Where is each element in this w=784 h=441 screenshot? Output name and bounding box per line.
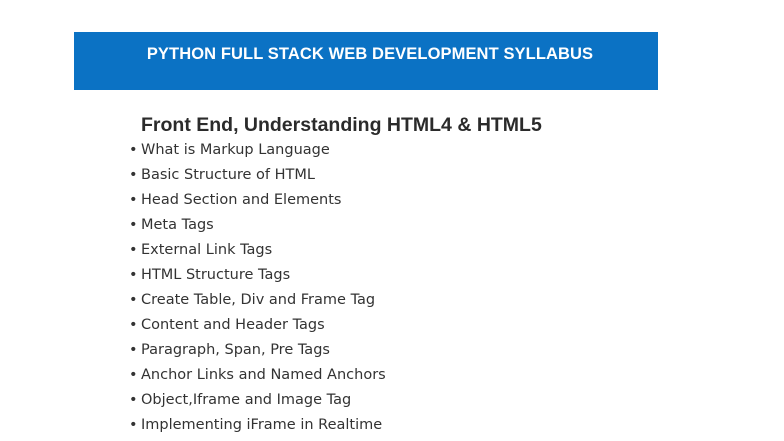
list-item-label: Create Table, Div and Frame Tag [141,288,375,313]
list-item: • Object,Iframe and Image Tag [129,388,729,413]
list-item-label: What is Markup Language [141,138,330,163]
list-item: • Implementing iFrame in Realtime [129,413,729,438]
list-item-label: Object,Iframe and Image Tag [141,388,351,413]
list-item-label: Basic Structure of HTML [141,163,315,188]
list-item: • Anchor Links and Named Anchors [129,363,729,388]
bullet-icon: • [129,288,138,313]
list-item: • Paragraph, Span, Pre Tags [129,338,729,363]
list-item: • External Link Tags [129,238,729,263]
section-heading: Front End, Understanding HTML4 & HTML5 [141,114,542,137]
document-page: PYTHON FULL STACK WEB DEVELOPMENT SYLLAB… [0,0,784,441]
list-item: • Basic Structure of HTML [129,163,729,188]
bullet-icon: • [129,138,138,163]
bullet-icon: • [129,188,138,213]
syllabus-title-text: PYTHON FULL STACK WEB DEVELOPMENT SYLLAB… [74,45,658,64]
syllabus-topic-list: • What is Markup Language • Basic Struct… [129,138,729,441]
list-item: • What is Markup Language [129,138,729,163]
bullet-icon: • [129,413,138,438]
list-item-label: External Link Tags [141,238,272,263]
bullet-icon: • [129,163,138,188]
bullet-icon: • [129,238,138,263]
list-item-label: Anchor Links and Named Anchors [141,363,386,388]
bullet-icon: • [129,213,138,238]
list-item: • Meta Tags [129,213,729,238]
syllabus-title-banner: PYTHON FULL STACK WEB DEVELOPMENT SYLLAB… [74,32,658,90]
bullet-icon: • [129,363,138,388]
list-item-label: Content and Header Tags [141,313,325,338]
bullet-icon: • [129,263,138,288]
list-item-label: Implementing iFrame in Realtime [141,413,382,438]
list-item-label: Head Section and Elements [141,188,341,213]
list-item: • Create Table, Div and Frame Tag [129,288,729,313]
list-item-label: HTML Structure Tags [141,263,290,288]
list-item-label: Paragraph, Span, Pre Tags [141,338,330,363]
list-item: • Content and Header Tags [129,313,729,338]
list-item-label: Meta Tags [141,213,214,238]
list-item: • Head Section and Elements [129,188,729,213]
bullet-icon: • [129,338,138,363]
bullet-icon: • [129,313,138,338]
bullet-icon: • [129,388,138,413]
list-item: • HTML Structure Tags [129,263,729,288]
